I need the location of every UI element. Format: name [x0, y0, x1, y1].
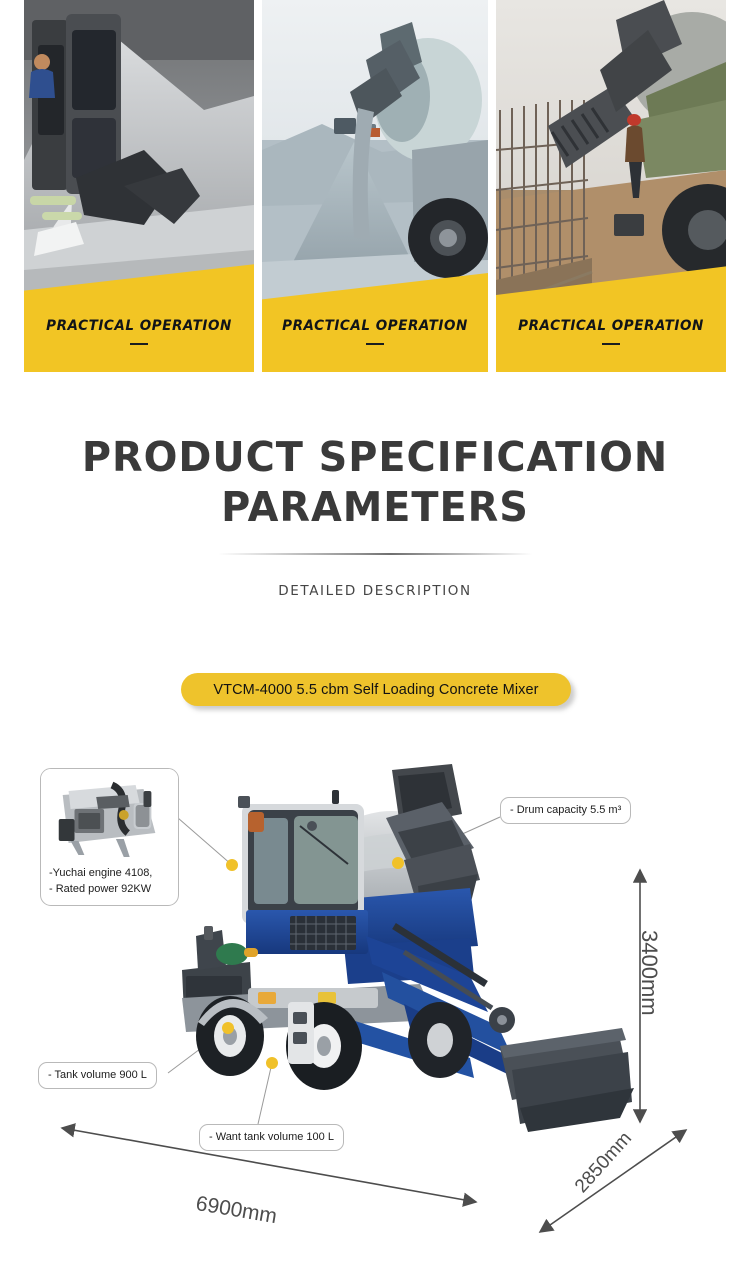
engine-photo — [41, 769, 178, 861]
gallery-caption-2: PRACTICAL OPERATION — [270, 318, 480, 334]
callout-dot-drum — [392, 857, 404, 869]
callout-drum-capacity[interactable]: - Drum capacity 5.5 m³ — [500, 797, 631, 824]
machine-spec-diagram: -Yuchai engine 4108, - Rated power 92KW … — [0, 740, 750, 1272]
page-title: PRODUCT SPECIFICATION PARAMETERS — [0, 432, 750, 532]
product-name-pill[interactable]: VTCM-4000 5.5 cbm Self Loading Concrete … — [181, 673, 571, 706]
title-divider — [218, 553, 532, 555]
callout-engine-line-1: -Yuchai engine 4108, — [49, 865, 170, 881]
callout-tank-volume[interactable]: - Tank volume 900 L — [38, 1062, 157, 1089]
callout-dot-engine — [226, 859, 238, 871]
practical-operation-gallery: PRACTICAL OPERATION — [24, 0, 726, 372]
callout-engine-line-2: - Rated power 92KW — [49, 881, 170, 897]
gallery-card-1[interactable]: PRACTICAL OPERATION — [24, 0, 254, 372]
dimension-label-height: 3400mm — [636, 930, 662, 1016]
callout-engine[interactable]: -Yuchai engine 4108, - Rated power 92KW — [40, 768, 179, 906]
gallery-card-2[interactable]: PRACTICAL OPERATION — [262, 0, 488, 372]
page-title-line-2: PARAMETERS — [11, 482, 739, 532]
product-name-label: VTCM-4000 5.5 cbm Self Loading Concrete … — [213, 682, 538, 698]
gallery-card-3[interactable]: PRACTICAL OPERATION — [496, 0, 726, 372]
product-detail-page: PRACTICAL OPERATION — [0, 0, 750, 1272]
caption-rule-1 — [130, 343, 148, 345]
gallery-caption-3: PRACTICAL OPERATION — [504, 318, 718, 334]
caption-rule-2 — [366, 343, 384, 345]
page-subtitle: DETAILED DESCRIPTION — [0, 583, 750, 599]
page-title-line-1: PRODUCT SPECIFICATION — [11, 432, 739, 482]
callout-dot-tank — [222, 1022, 234, 1034]
gallery-caption-1: PRACTICAL OPERATION — [32, 318, 246, 334]
callout-dot-want-tank — [266, 1057, 278, 1069]
callout-want-tank-volume[interactable]: - Want tank volume 100 L — [199, 1124, 344, 1151]
caption-rule-3 — [602, 343, 620, 345]
